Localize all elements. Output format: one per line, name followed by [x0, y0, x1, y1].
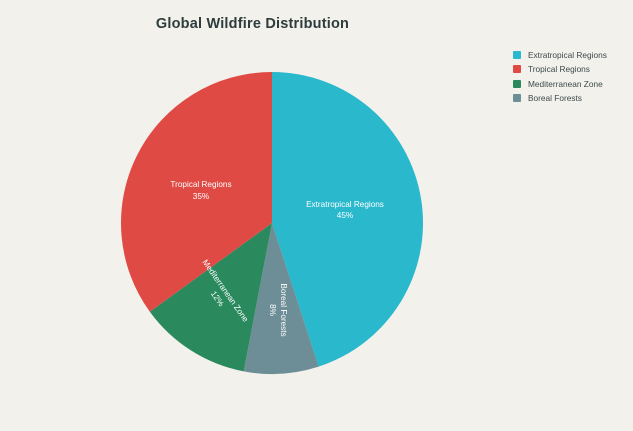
legend-item-label: Tropical Regions — [528, 65, 590, 73]
legend-item-label: Mediterranean Zone — [528, 80, 603, 88]
pie-slice-label: Tropical Regions — [170, 180, 231, 189]
pie-slice-value: 35% — [193, 192, 209, 201]
legend-swatch-icon — [513, 65, 521, 73]
legend-item[interactable]: Boreal Forests — [513, 91, 631, 105]
legend-swatch-icon — [513, 80, 521, 88]
pie-slice-value: 8% — [268, 304, 277, 316]
legend-swatch-icon — [513, 94, 521, 102]
legend-item-label: Boreal Forests — [528, 94, 582, 102]
legend-item-label: Extratropical Regions — [528, 51, 607, 59]
pie-slice-label: Extratropical Regions — [306, 200, 384, 209]
legend-item[interactable]: Tropical Regions — [513, 62, 631, 76]
legend-swatch-icon — [513, 51, 521, 59]
pie-slice-label: Boreal Forests — [279, 283, 288, 336]
legend-item[interactable]: Extratropical Regions — [513, 48, 631, 62]
pie-slice-group — [121, 72, 423, 374]
chart-legend: Extratropical RegionsTropical RegionsMed… — [513, 48, 631, 106]
pie-chart-figure: Global Wildfire Distribution Extratropic… — [0, 0, 633, 431]
pie-slice-value: 45% — [337, 211, 353, 220]
legend-item[interactable]: Mediterranean Zone — [513, 77, 631, 91]
